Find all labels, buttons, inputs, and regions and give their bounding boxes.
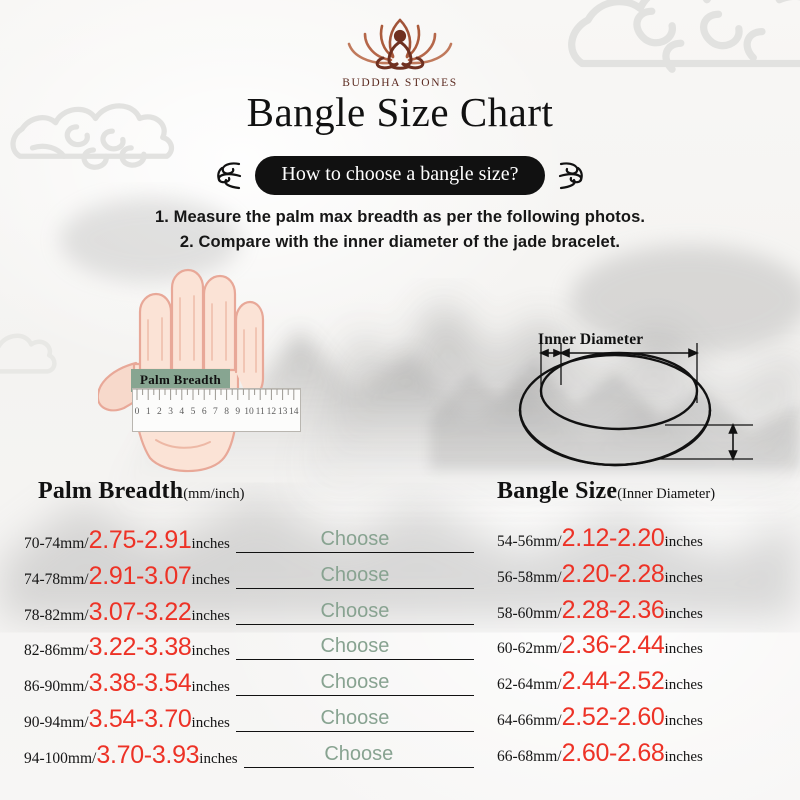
ruler-number: 13 <box>278 407 288 417</box>
subtitle-bar: How to choose a bangle size? <box>0 156 800 195</box>
palm-mm-value: 74-78mm/ <box>24 571 89 589</box>
ruler-number: 3 <box>168 407 173 417</box>
choose-option-field[interactable]: Choose <box>236 703 474 732</box>
table-row: 82-86mm/3.22-3.38inchesChoose <box>24 631 474 667</box>
instructions-list: 1. Measure the palm max breadth as per t… <box>0 205 800 255</box>
flourish-ornament-icon <box>557 159 587 193</box>
table-row: 66-68mm/2.60-2.68inches <box>497 739 703 775</box>
ruler-ticks <box>133 389 300 405</box>
choose-label[interactable]: Choose <box>320 601 389 621</box>
palm-mm-value: 82-86mm/ <box>24 642 89 660</box>
bangle-mm-value: 66-68mm/ <box>497 748 562 766</box>
palm-mm-value: 78-82mm/ <box>24 607 89 625</box>
palm-inch-value: 2.91-3.07 <box>89 562 192 591</box>
bangle-inch-value: 2.52-2.60 <box>562 703 665 732</box>
palm-inch-value: 3.38-3.54 <box>89 669 192 698</box>
instruction-step-1: 1. Measure the palm max breadth as per t… <box>0 205 800 230</box>
table-row: 54-56mm/2.12-2.20inches <box>497 524 703 560</box>
palm-breadth-table: 70-74mm/2.75-2.91inchesChoose74-78mm/2.9… <box>24 524 474 775</box>
bangle-mm-value: 60-62mm/ <box>497 640 562 658</box>
bangle-unit-label: inches <box>665 713 703 730</box>
table-row: 58-60mm/2.28-2.36inches <box>497 596 703 632</box>
bangle-unit-label: inches <box>665 570 703 587</box>
palm-unit-label: inches <box>192 643 230 660</box>
choose-option-field[interactable]: Choose <box>236 596 474 625</box>
ruler-number: 2 <box>157 407 162 417</box>
bangle-unit-label: inches <box>665 677 703 694</box>
ruler-number: 5 <box>191 407 196 417</box>
palm-breadth-header-main: Palm Breadth <box>38 478 183 504</box>
choose-option-field[interactable]: Choose <box>236 667 474 696</box>
palm-mm-value: 70-74mm/ <box>24 535 89 553</box>
palm-unit-label: inches <box>199 751 237 768</box>
palm-unit-label: inches <box>192 572 230 589</box>
instruction-step-2: 2. Compare with the inner diameter of th… <box>0 230 800 255</box>
ruler-number: 6 <box>202 407 207 417</box>
bangle-mm-value: 54-56mm/ <box>497 533 562 551</box>
table-row: 86-90mm/3.38-3.54inchesChoose <box>24 667 474 703</box>
ruler-number: 4 <box>179 407 184 417</box>
choose-label[interactable]: Choose <box>320 708 389 728</box>
bangle-size-header-main: Bangle Size <box>497 478 617 504</box>
ruler-number: 9 <box>235 407 240 417</box>
ruler-number: 8 <box>224 407 229 417</box>
bangle-inch-value: 2.44-2.52 <box>562 667 665 696</box>
bangle-unit-label: inches <box>665 606 703 623</box>
table-row: 64-66mm/2.52-2.60inches <box>497 703 703 739</box>
ruler-graphic: 01234567891011121314 <box>132 388 301 432</box>
ruler-number: 12 <box>267 407 277 417</box>
table-row: 60-62mm/2.36-2.44inches <box>497 631 703 667</box>
choose-option-field[interactable]: Choose <box>236 560 474 589</box>
bangle-unit-label: inches <box>665 534 703 551</box>
bangle-inch-value: 2.60-2.68 <box>562 739 665 768</box>
choose-option-field[interactable]: Choose <box>236 631 474 660</box>
palm-inch-value: 3.07-3.22 <box>89 598 192 627</box>
bangle-inch-value: 2.20-2.28 <box>562 560 665 589</box>
bangle-mm-value: 56-58mm/ <box>497 569 562 587</box>
table-row: 56-58mm/2.20-2.28inches <box>497 560 703 596</box>
ruler-number: 11 <box>256 407 265 417</box>
palm-breadth-header-sub: (mm/inch) <box>183 486 244 502</box>
palm-inch-value: 3.70-3.93 <box>96 741 199 770</box>
bangle-mm-value: 64-66mm/ <box>497 712 562 730</box>
palm-unit-label: inches <box>192 679 230 696</box>
table-row: 90-94mm/3.54-3.70inchesChoose <box>24 703 474 739</box>
palm-inch-value: 3.22-3.38 <box>89 633 192 662</box>
how-to-choose-pill: How to choose a bangle size? <box>255 156 544 195</box>
bangle-size-header-sub: (Inner Diameter) <box>617 486 715 502</box>
bangle-inch-value: 2.36-2.44 <box>562 631 665 660</box>
ruler-number: 0 <box>135 407 140 417</box>
bangle-mm-value: 62-64mm/ <box>497 676 562 694</box>
palm-mm-value: 86-90mm/ <box>24 678 89 696</box>
bangle-unit-label: inches <box>665 641 703 658</box>
palm-unit-label: inches <box>192 536 230 553</box>
ruler-number: 14 <box>289 407 299 417</box>
ruler-number: 7 <box>213 407 218 417</box>
page-title: Bangle Size Chart <box>0 88 800 136</box>
table-row: 78-82mm/3.07-3.22inchesChoose <box>24 596 474 632</box>
table-row: 62-64mm/2.44-2.52inches <box>497 667 703 703</box>
choose-label[interactable]: Choose <box>320 636 389 656</box>
bangle-ring-cross-section-icon <box>505 325 760 475</box>
bangle-inch-value: 2.28-2.36 <box>562 596 665 625</box>
table-row: 70-74mm/2.75-2.91inchesChoose <box>24 524 474 560</box>
bangle-unit-label: inches <box>665 749 703 766</box>
palm-inch-value: 2.75-2.91 <box>89 526 192 555</box>
choose-label[interactable]: Choose <box>320 565 389 585</box>
ruler-numbers: 01234567891011121314 <box>133 404 300 430</box>
table-row: 94-100mm/3.70-3.93inchesChoose <box>24 739 474 775</box>
bangle-mm-value: 58-60mm/ <box>497 605 562 623</box>
bangle-size-chart-page: BUDDHA STONES Bangle Size Chart How to c… <box>0 0 800 800</box>
choose-option-field[interactable]: Choose <box>236 524 474 553</box>
flourish-ornament-icon <box>213 159 243 193</box>
brand-logo: BUDDHA STONES <box>0 14 800 89</box>
palm-breadth-column-header: Palm Breadth(mm/inch) <box>38 478 245 505</box>
lotus-meditation-icon <box>335 14 465 76</box>
choose-label[interactable]: Choose <box>324 744 393 764</box>
bangle-size-table: 54-56mm/2.12-2.20inches56-58mm/2.20-2.28… <box>497 524 703 775</box>
palm-unit-label: inches <box>192 608 230 625</box>
choose-option-field[interactable]: Choose <box>244 739 474 768</box>
palm-unit-label: inches <box>192 715 230 732</box>
bangle-size-column-header: Bangle Size(Inner Diameter) <box>497 478 715 505</box>
palm-mm-value: 90-94mm/ <box>24 714 89 732</box>
ruler-number: 1 <box>146 407 151 417</box>
palm-inch-value: 3.54-3.70 <box>89 705 192 734</box>
table-row: 74-78mm/2.91-3.07inchesChoose <box>24 560 474 596</box>
palm-mm-value: 94-100mm/ <box>24 750 96 768</box>
choose-label[interactable]: Choose <box>320 672 389 692</box>
bangle-inch-value: 2.12-2.20 <box>562 524 665 553</box>
choose-label[interactable]: Choose <box>320 529 389 549</box>
ruler-number: 10 <box>244 407 254 417</box>
